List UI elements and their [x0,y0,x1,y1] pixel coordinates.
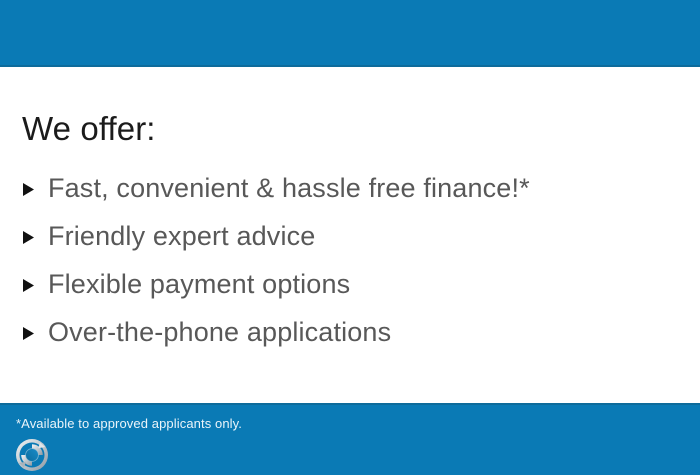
list-item-label: Fast, convenient & hassle free finance!* [48,172,530,204]
bottom-blue-band: *Available to approved applicants only. [0,403,700,475]
list-item-label: Friendly expert advice [48,220,315,252]
top-blue-band [0,0,700,67]
list-item: Friendly expert advice [22,212,682,260]
circular-arrows-logo-icon [15,438,49,472]
triangle-right-icon [22,325,36,341]
slide-canvas: We offer: Fast, convenient & hassle free… [0,0,700,475]
triangle-right-icon [22,277,36,293]
triangle-right-icon [22,181,36,197]
list-item: Over-the-phone applications [22,308,682,356]
list-item: Flexible payment options [22,260,682,308]
offer-bullet-list: Fast, convenient & hassle free finance!*… [22,164,682,356]
list-item-label: Flexible payment options [48,268,350,300]
slide-content: We offer: Fast, convenient & hassle free… [0,69,700,403]
list-item-label: Over-the-phone applications [48,316,391,348]
triangle-right-icon [22,229,36,245]
footnote-text: *Available to approved applicants only. [16,416,242,432]
page-title: We offer: [22,110,156,148]
list-item: Fast, convenient & hassle free finance!* [22,164,682,212]
